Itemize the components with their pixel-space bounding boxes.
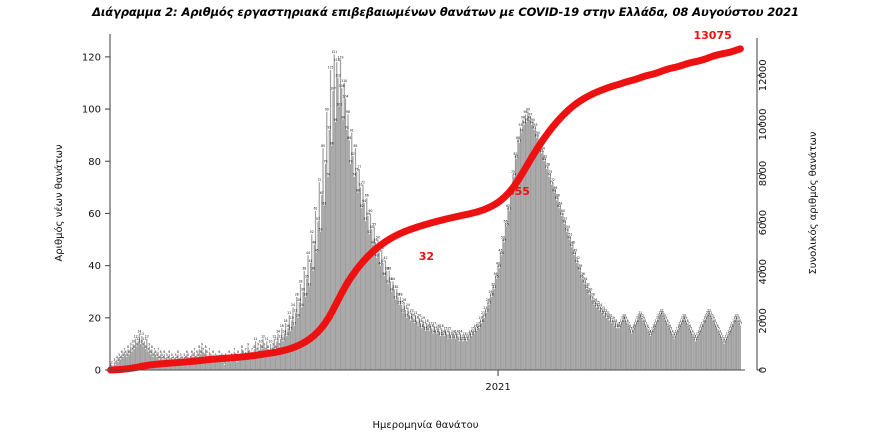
svg-text:42: 42 [576, 256, 580, 260]
svg-text:74: 74 [326, 173, 330, 177]
svg-text:44: 44 [500, 251, 504, 255]
svg-text:2021: 2021 [485, 382, 510, 393]
svg-text:82: 82 [351, 152, 355, 156]
svg-text:57: 57 [563, 217, 567, 221]
svg-text:10: 10 [259, 340, 263, 344]
svg-text:42: 42 [384, 256, 388, 260]
svg-text:34: 34 [391, 277, 395, 281]
svg-text:79: 79 [349, 160, 353, 164]
cumulative-annotation-label: 655 [507, 185, 530, 198]
svg-text:57: 57 [316, 217, 320, 221]
svg-text:45: 45 [573, 248, 577, 252]
svg-text:63: 63 [558, 201, 562, 205]
svg-text:77: 77 [357, 165, 361, 169]
svg-text:92: 92 [345, 126, 349, 130]
svg-text:10000: 10000 [758, 109, 769, 141]
svg-text:19: 19 [290, 316, 294, 320]
svg-text:91: 91 [350, 128, 354, 132]
svg-text:36: 36 [581, 272, 585, 276]
svg-text:38: 38 [302, 267, 306, 271]
svg-text:93: 93 [533, 123, 537, 127]
svg-text:74: 74 [512, 173, 516, 177]
svg-text:74: 74 [352, 173, 356, 177]
svg-text:9: 9 [247, 342, 249, 346]
svg-text:80: 80 [88, 157, 101, 168]
svg-text:16: 16 [477, 324, 481, 328]
svg-text:97: 97 [528, 113, 532, 117]
svg-text:66: 66 [365, 194, 369, 198]
svg-text:31: 31 [395, 285, 399, 289]
svg-text:28: 28 [591, 293, 595, 297]
svg-text:110: 110 [341, 79, 347, 83]
svg-text:4000: 4000 [758, 259, 769, 284]
svg-text:91: 91 [520, 128, 524, 132]
svg-text:61: 61 [507, 207, 511, 211]
svg-text:36: 36 [382, 272, 386, 276]
svg-text:12000: 12000 [758, 59, 769, 91]
svg-text:51: 51 [568, 233, 572, 237]
svg-text:52: 52 [310, 230, 314, 234]
svg-text:78: 78 [546, 162, 550, 166]
svg-text:17: 17 [738, 321, 742, 325]
svg-text:60: 60 [88, 209, 101, 220]
svg-text:54: 54 [566, 225, 570, 229]
svg-text:104: 104 [343, 94, 349, 98]
svg-text:0: 0 [758, 367, 769, 373]
svg-text:24: 24 [291, 303, 295, 307]
svg-text:85: 85 [354, 144, 358, 148]
svg-text:41: 41 [309, 259, 313, 263]
svg-text:60: 60 [369, 209, 373, 213]
svg-text:39: 39 [497, 264, 501, 268]
svg-text:9: 9 [201, 342, 203, 346]
svg-text:0: 0 [95, 366, 101, 377]
svg-text:99: 99 [526, 107, 530, 111]
svg-text:30: 30 [301, 288, 305, 292]
bar-value-labels: 1232435465765869710812911141013911812796… [110, 50, 743, 367]
svg-text:10: 10 [131, 340, 135, 344]
svg-text:88: 88 [347, 136, 351, 140]
svg-text:119: 119 [338, 55, 344, 59]
svg-text:112: 112 [335, 74, 341, 78]
svg-text:63: 63 [322, 201, 326, 205]
svg-text:9: 9 [263, 342, 265, 346]
svg-text:7: 7 [245, 348, 247, 352]
svg-text:98: 98 [346, 110, 350, 114]
bottom-axis-title: Ημερομηνία θανάτου [372, 419, 478, 431]
svg-text:8: 8 [275, 345, 277, 349]
svg-text:18: 18 [284, 319, 288, 323]
svg-text:22: 22 [485, 308, 489, 312]
svg-text:34: 34 [583, 277, 587, 281]
svg-text:17: 17 [292, 321, 296, 325]
svg-text:9: 9 [278, 342, 280, 346]
svg-text:35: 35 [305, 274, 309, 278]
svg-text:52: 52 [367, 230, 371, 234]
svg-text:62: 62 [360, 204, 364, 208]
svg-text:8: 8 [267, 345, 269, 349]
svg-text:13: 13 [285, 332, 289, 336]
svg-text:49: 49 [502, 238, 506, 242]
svg-text:16: 16 [280, 324, 284, 328]
svg-text:101: 101 [336, 102, 342, 106]
svg-text:12: 12 [145, 334, 149, 338]
svg-text:28: 28 [295, 293, 299, 297]
svg-text:8: 8 [241, 345, 243, 349]
svg-text:26: 26 [402, 298, 406, 302]
svg-text:11: 11 [254, 337, 258, 341]
svg-text:48: 48 [312, 241, 316, 245]
svg-text:45: 45 [315, 248, 319, 252]
svg-text:28: 28 [399, 293, 403, 297]
svg-text:32: 32 [307, 282, 311, 286]
svg-text:60: 60 [561, 209, 565, 213]
svg-text:115: 115 [328, 66, 334, 70]
svg-text:35: 35 [495, 274, 499, 278]
svg-text:96: 96 [341, 115, 345, 119]
svg-text:33: 33 [299, 280, 303, 284]
svg-text:95: 95 [334, 118, 338, 122]
svg-text:13: 13 [140, 332, 144, 336]
svg-text:81: 81 [543, 154, 547, 158]
svg-text:38: 38 [387, 267, 391, 271]
chart-plot-area: 1232435465765869710812911141013911812796… [0, 0, 891, 442]
svg-text:24: 24 [406, 303, 410, 307]
svg-text:57: 57 [364, 217, 368, 221]
svg-text:87: 87 [517, 139, 521, 143]
svg-text:7: 7 [233, 348, 235, 352]
svg-text:2000: 2000 [758, 308, 769, 333]
svg-text:100: 100 [82, 105, 101, 116]
svg-text:69: 69 [553, 186, 557, 190]
chart-figure: Διάγραμμα 2: Αριθμός εργαστηριακά επιβεβ… [0, 0, 891, 442]
cumulative-annotation-label: 32 [419, 250, 434, 263]
svg-text:8: 8 [205, 345, 207, 349]
svg-text:18: 18 [480, 319, 484, 323]
svg-text:25: 25 [487, 301, 491, 305]
svg-text:120: 120 [82, 52, 101, 63]
svg-text:68: 68 [356, 188, 360, 192]
right-axis-title: Συνολικός αριθμός θανάτων [807, 131, 819, 274]
svg-text:67: 67 [320, 191, 324, 195]
svg-text:71: 71 [361, 181, 365, 185]
svg-text:20: 20 [88, 313, 101, 324]
svg-text:28: 28 [304, 293, 308, 297]
svg-text:121: 121 [331, 50, 337, 54]
svg-text:81: 81 [515, 154, 519, 158]
svg-text:7: 7 [208, 348, 210, 352]
svg-text:79: 79 [324, 160, 328, 164]
svg-text:24: 24 [300, 303, 304, 307]
svg-text:55: 55 [372, 222, 376, 226]
svg-text:66: 66 [556, 194, 560, 198]
svg-text:85: 85 [321, 144, 325, 148]
svg-text:26: 26 [297, 298, 301, 302]
svg-text:11: 11 [281, 337, 285, 341]
svg-text:44: 44 [306, 251, 310, 255]
svg-text:61: 61 [314, 207, 318, 211]
svg-text:28: 28 [490, 293, 494, 297]
svg-text:40: 40 [88, 261, 101, 272]
svg-text:9: 9 [136, 342, 138, 346]
svg-text:43: 43 [375, 254, 379, 258]
svg-text:6000: 6000 [758, 210, 769, 235]
svg-text:38: 38 [311, 267, 315, 271]
svg-text:90: 90 [536, 131, 540, 135]
svg-text:99: 99 [325, 107, 329, 111]
svg-text:22: 22 [294, 308, 298, 312]
svg-text:31: 31 [492, 285, 496, 289]
svg-text:92: 92 [327, 126, 331, 130]
svg-text:20: 20 [482, 314, 486, 318]
svg-text:55: 55 [505, 222, 509, 226]
svg-text:108: 108 [339, 84, 345, 88]
svg-text:21: 21 [287, 311, 291, 315]
svg-text:30: 30 [588, 288, 592, 292]
axes-group: 0204060801001200200040006000800010000120… [53, 34, 819, 431]
svg-text:53: 53 [319, 228, 323, 232]
svg-text:39: 39 [578, 264, 582, 268]
svg-text:50: 50 [376, 235, 380, 239]
svg-text:95: 95 [531, 118, 535, 122]
svg-text:14: 14 [276, 329, 280, 333]
svg-text:20: 20 [296, 314, 300, 318]
left-axis-title: Αριθμός νέων θανάτων [53, 144, 65, 262]
svg-text:48: 48 [571, 241, 575, 245]
svg-text:8000: 8000 [758, 161, 769, 186]
svg-text:32: 32 [586, 282, 590, 286]
cumulative-annotation-label: 13075 [693, 29, 731, 42]
svg-text:75: 75 [548, 170, 552, 174]
svg-text:72: 72 [551, 178, 555, 182]
svg-text:64: 64 [362, 199, 366, 203]
svg-text:72: 72 [317, 178, 321, 182]
svg-text:107: 107 [330, 87, 336, 91]
svg-text:15: 15 [289, 327, 293, 331]
svg-text:86: 86 [330, 141, 334, 145]
